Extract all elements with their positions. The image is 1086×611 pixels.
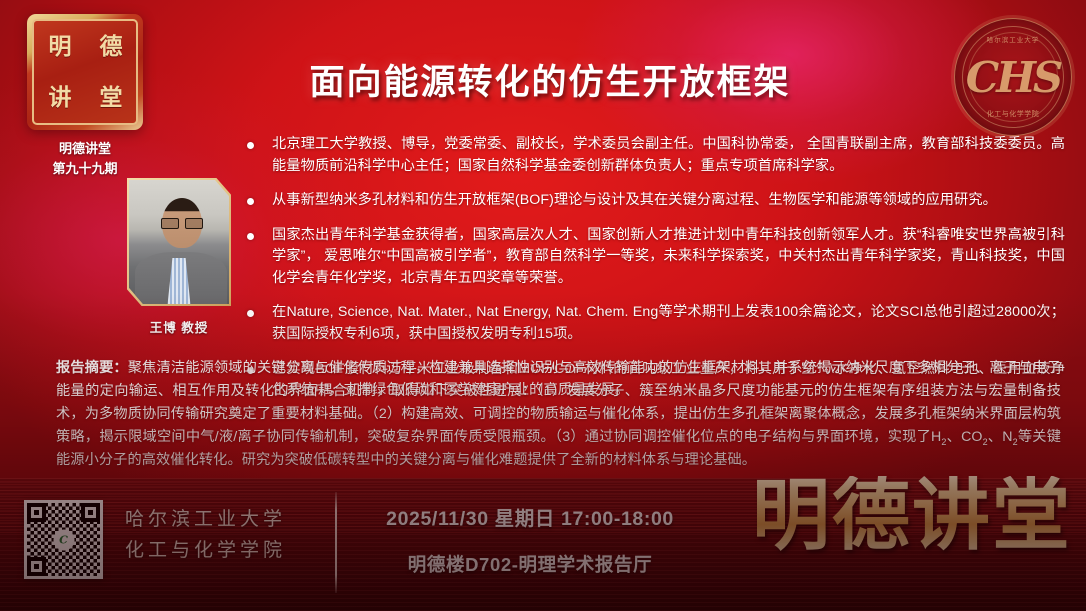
seal-inner: 明 德 讲 堂 (32, 19, 138, 125)
list-item: 国家杰出青年科学基金获得者，国家高层次人才、国家创新人才推进计划中青年科技创新领… (247, 225, 1065, 290)
abstract-label: 报告摘要： (56, 360, 128, 376)
qr-finder-top-right (81, 503, 100, 522)
bullet-dot-icon (247, 198, 254, 205)
bullet-dot-icon (247, 310, 254, 317)
bullet-text: 国家杰出青年科学基金获得者，国家高层次人才、国家创新人才推进计划中青年科技创新领… (272, 225, 1065, 290)
speaker-photo (129, 180, 229, 304)
university-emblem-icon: 哈尔滨工业大学 CHS 化工与化学学院 (954, 18, 1072, 136)
qr-code[interactable]: C (24, 500, 103, 579)
emblem-bottom-text: 化工与化学学院 (955, 109, 1071, 119)
seal-char-1: 明 (49, 35, 71, 58)
seal-char-4: 堂 (100, 86, 122, 109)
speaker-photo-frame (127, 178, 231, 306)
seal-caption-line-2: 第九十九期 (24, 159, 146, 179)
bullet-dot-icon (247, 233, 254, 240)
seal-caption: 明德讲堂 第九十九期 (24, 139, 146, 178)
event-date: 2025/11/30 星期日 17:00-18:00 (370, 502, 690, 531)
formula-separator-1: 、 (947, 429, 962, 445)
seal-logo-block: 明 德 讲 堂 明德讲堂 第九十九期 (24, 14, 146, 178)
bullet-text: 在Nature, Science, Nat. Mater., Nat Energ… (272, 302, 1065, 345)
speaker-block: 王博 教授 (127, 178, 231, 336)
bullet-dot-icon (247, 142, 254, 149)
glasses-icon (161, 218, 203, 227)
abstract-body-part-1: 聚焦清洁能源领域的关键分离与催化传质过程，构建兼具选择性识别与高效传输能力的仿生… (56, 360, 1061, 445)
university-name-line-2: 化工与化学学院 (125, 535, 286, 566)
speaker-name: 王博 教授 (127, 317, 231, 336)
abstract-section: 报告摘要：聚焦清洁能源领域的关键分离与催化传质过程，构建兼具选择性识别与高效传输… (56, 357, 1061, 472)
list-item: 北京理工大学教授、博导，党委常委、副校长，学术委员会副主任。中国科协常委， 全国… (247, 134, 1065, 177)
university-name: 哈尔滨工业大学 化工与化学学院 (125, 504, 286, 567)
bullet-text: 北京理工大学教授、博导，党委常委、副校长，学术委员会副主任。中国科协常委， 全国… (272, 134, 1065, 177)
qr-code-pattern: C (27, 503, 100, 576)
formula-separator-2: 、 (988, 429, 1003, 445)
formula-n2: N (1002, 429, 1012, 445)
poster-root: 明 德 讲 堂 明德讲堂 第九十九期 哈尔滨工业大学 CHS 化工与化学学院 面… (0, 0, 1086, 611)
university-name-line-1: 哈尔滨工业大学 (125, 504, 286, 535)
seal-char-2: 德 (100, 35, 122, 58)
bullet-text: 从事新型纳米多孔材料和仿生开放框架(BOF)理论与设计及其在关键分离过程、生物医… (272, 190, 1065, 212)
emblem-top-text: 哈尔滨工业大学 (955, 34, 1071, 44)
page-title: 面向能源转化的仿生开放框架 (180, 54, 920, 105)
seal-caption-line-1: 明德讲堂 (24, 139, 146, 159)
seal-char-3: 讲 (49, 86, 71, 109)
seal-icon: 明 德 讲 堂 (27, 14, 143, 130)
footer-divider (335, 492, 337, 593)
list-item: 在Nature, Science, Nat. Mater., Nat Energ… (247, 302, 1065, 345)
qr-center-logo-icon: C (53, 529, 74, 550)
emblem-monogram: CHS (966, 53, 1060, 102)
event-venue: 明德楼D702-明理学术报告厅 (370, 551, 690, 577)
list-item: 从事新型纳米多孔材料和仿生开放框架(BOF)理论与设计及其在关键分离过程、生物医… (247, 190, 1065, 212)
formula-co2: CO (961, 429, 982, 445)
brand-wordmark: 明德讲堂 (752, 476, 1072, 554)
formula-h2: H (931, 429, 941, 445)
qr-finder-top-left (27, 503, 46, 522)
event-info: 2025/11/30 星期日 17:00-18:00 明德楼D702-明理学术报… (370, 502, 690, 577)
qr-finder-bottom-left (27, 557, 46, 576)
